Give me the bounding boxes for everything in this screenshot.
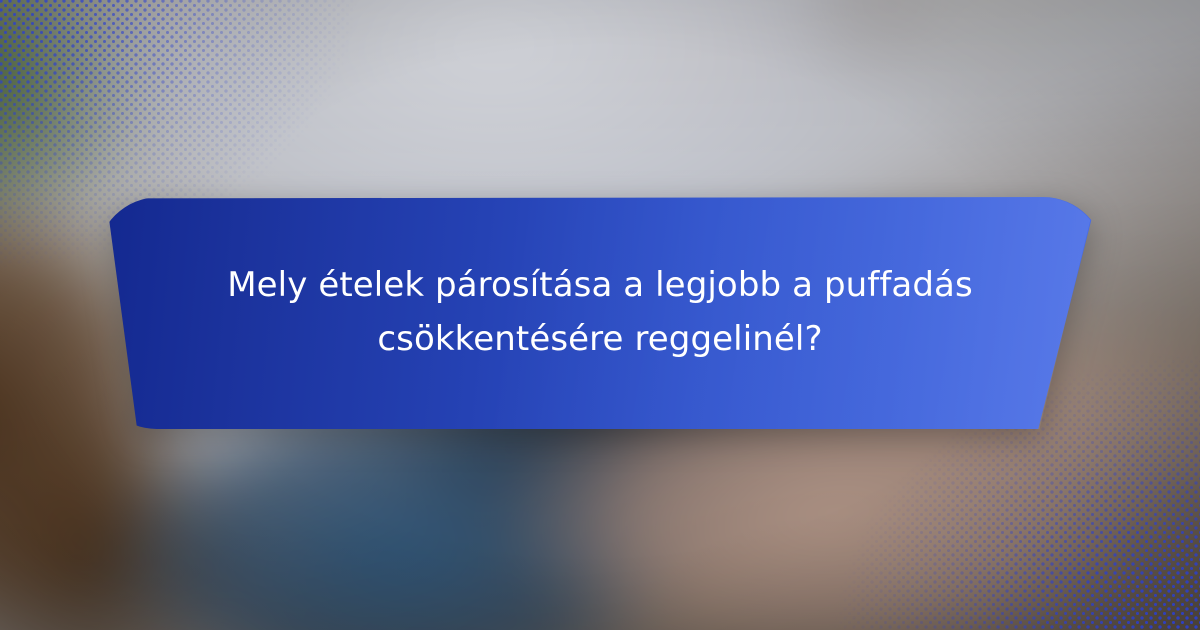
- headline-line-1: Mely ételek párosítása a legjobb a puffa…: [227, 259, 973, 313]
- headline-text: Mely ételek párosítása a legjobb a puffa…: [96, 197, 1104, 429]
- social-card: Mely ételek párosítása a legjobb a puffa…: [0, 0, 1200, 630]
- headline-line-2: csökkentésére reggelinél?: [377, 313, 822, 367]
- headline-banner: Mely ételek párosítása a legjobb a puffa…: [96, 197, 1104, 429]
